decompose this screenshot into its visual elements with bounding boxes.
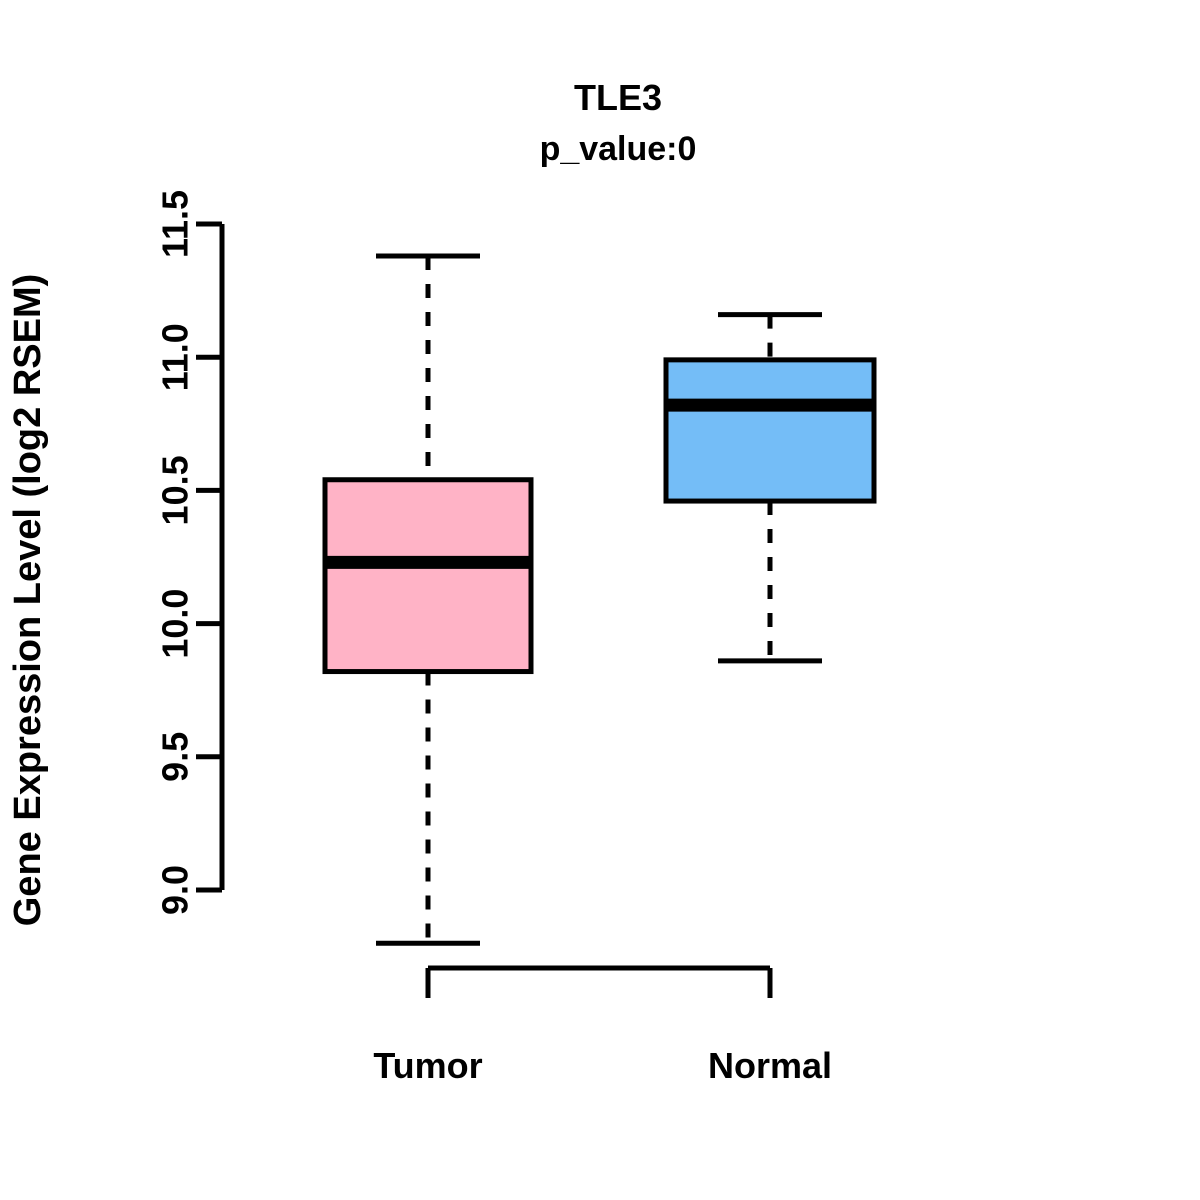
x-axis-tick-label-tumor: Tumor (373, 1045, 482, 1086)
y-axis-tick-label: 11.0 (155, 323, 196, 391)
y-axis-tick-label: 10.0 (155, 589, 196, 659)
box-plot-tumor (323, 256, 533, 943)
y-axis-tick-label: 10.5 (155, 455, 196, 525)
y-axis-tick-label: 11.5 (155, 190, 196, 258)
y-axis: 9.09.510.010.511.011.5 (155, 190, 222, 915)
x-axis-tick-labels: TumorNormal (373, 1045, 832, 1086)
box-plot-normal (664, 315, 876, 661)
box-series (323, 256, 876, 943)
chart-subtitle: p_value:0 (540, 130, 697, 168)
x-axis-tick-label-normal: Normal (708, 1045, 832, 1086)
chart-title: TLE3 (574, 77, 662, 118)
y-axis-tick-label: 9.0 (155, 865, 196, 915)
box-iqr (666, 360, 874, 501)
box-iqr (325, 480, 531, 672)
boxplot-canvas: TLE3 p_value:0 Gene Expression Level (lo… (0, 0, 1200, 1200)
y-axis-tick-label: 9.5 (155, 732, 196, 782)
boxplot-figure: TLE3 p_value:0 Gene Expression Level (lo… (0, 0, 1200, 1200)
x-axis (428, 968, 770, 998)
y-axis-label: Gene Expression Level (log2 RSEM) (7, 274, 49, 927)
